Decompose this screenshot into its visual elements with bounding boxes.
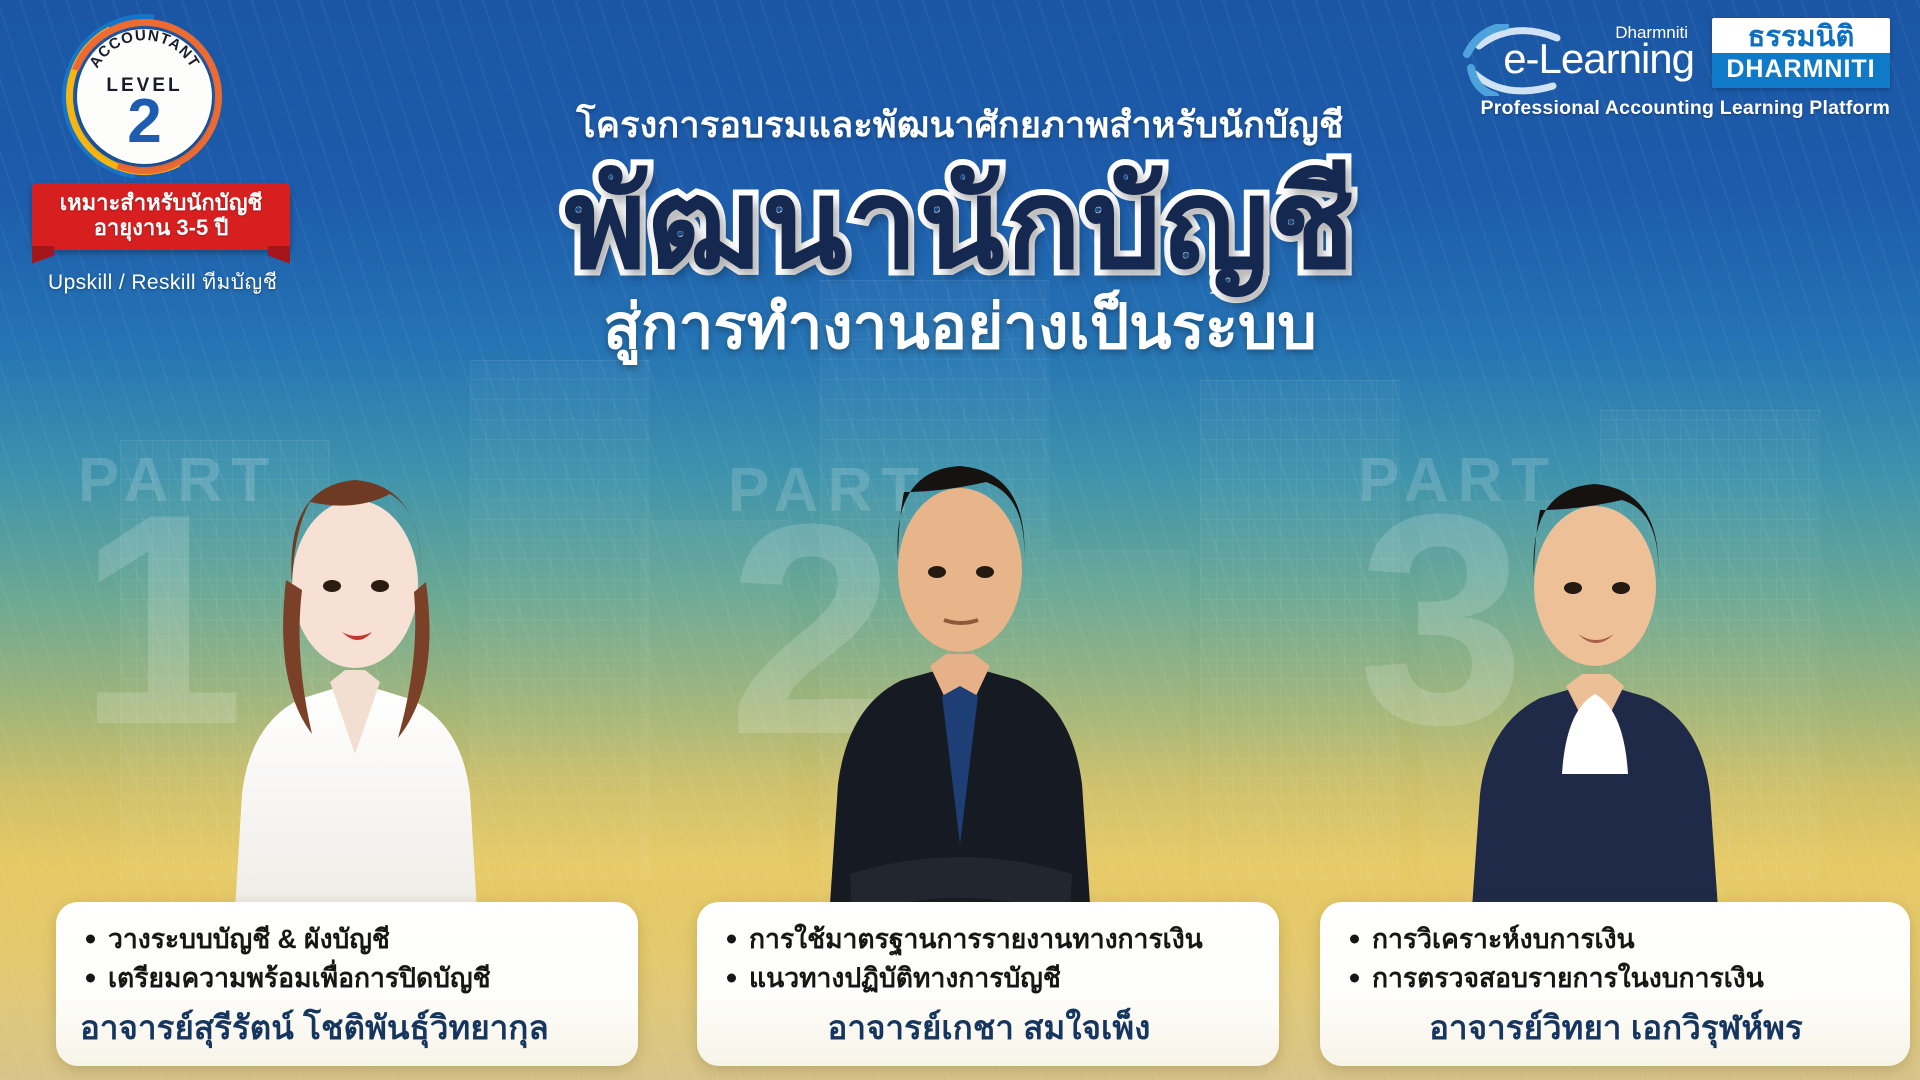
ribbon-line-2: อายุงาน 3-5 ปี: [38, 215, 284, 240]
list-item: แนวทางปฏิบัติทางการบัญชี: [719, 959, 1259, 997]
badge-arc-text: ACCOUNTANT: [77, 35, 212, 99]
card-2-bullet-list: การใช้มาตรฐานการรายงานทางการเงิน แนวทางป…: [719, 920, 1259, 997]
elearning-logo: Dharmniti e-Learning: [1463, 22, 1698, 84]
ribbon-line-1: เหมาะสำหรับนักบัญชี: [38, 190, 284, 215]
list-item: วางระบบบัญชี & ผังบัญชี: [78, 920, 618, 958]
speaker-photo-2: [790, 374, 1130, 994]
card-3-bullet-list: การวิเคราะห์งบการเงิน การตรวจสอบรายการใน…: [1342, 920, 1890, 997]
card-2-speaker-name: อาจารย์เกชา สมใจเพ็ง: [719, 1001, 1259, 1054]
list-item: การตรวจสอบรายการในงบการเงิน: [1342, 959, 1890, 997]
subtitle: สู่การทำงานอย่างเป็นระบบ: [0, 294, 1920, 362]
dharmniti-english: DHARMNITI: [1712, 53, 1890, 88]
logo-brand-main: e-Learning: [1503, 38, 1694, 80]
building-block: [1200, 380, 1400, 880]
target-audience-ribbon: เหมาะสำหรับนักบัญชี อายุงาน 3-5 ปี: [32, 183, 290, 250]
part-card-2[interactable]: การใช้มาตรฐานการรายงานทางการเงิน แนวทางป…: [697, 902, 1279, 1066]
dharmniti-thai: ธรรมนิติ: [1712, 18, 1890, 53]
platform-tagline: Professional Accounting Learning Platfor…: [1481, 97, 1890, 120]
card-1-speaker-name: อาจารย์สุรีรัตน์ โชติพันธุ์วิทยากุล: [78, 1001, 618, 1054]
list-item: การวิเคราะห์งบการเงิน: [1342, 920, 1890, 958]
dharmniti-name-box: ธรรมนิติ DHARMNITI: [1712, 18, 1890, 88]
part-card-1[interactable]: วางระบบบัญชี & ผังบัญชี เตรียมความพร้อมเ…: [56, 902, 638, 1066]
dharmniti-logo-block[interactable]: Dharmniti e-Learning ธรรมนิติ DHARMNITI …: [1463, 18, 1890, 120]
upskill-reskill-label: Upskill / Reskill ทีมบัญชี: [48, 266, 277, 299]
promo-banner: PART 1 PART 2 PART 3: [0, 0, 1920, 1080]
building-block: [640, 520, 790, 880]
list-item: เตรียมความพร้อมเพื่อการปิดบัญชี: [78, 959, 618, 997]
card-1-bullet-list: วางระบบบัญชี & ผังบัญชี เตรียมความพร้อมเ…: [78, 920, 618, 997]
logo-row: Dharmniti e-Learning ธรรมนิติ DHARMNITI: [1463, 18, 1890, 88]
part-card-3[interactable]: การวิเคราะห์งบการเงิน การตรวจสอบรายการใน…: [1320, 902, 1910, 1066]
list-item: การใช้มาตรฐานการรายงานทางการเงิน: [719, 920, 1259, 958]
card-3-speaker-name: อาจารย์วิทยา เอกวิรุฬห์พร: [1342, 1001, 1890, 1054]
